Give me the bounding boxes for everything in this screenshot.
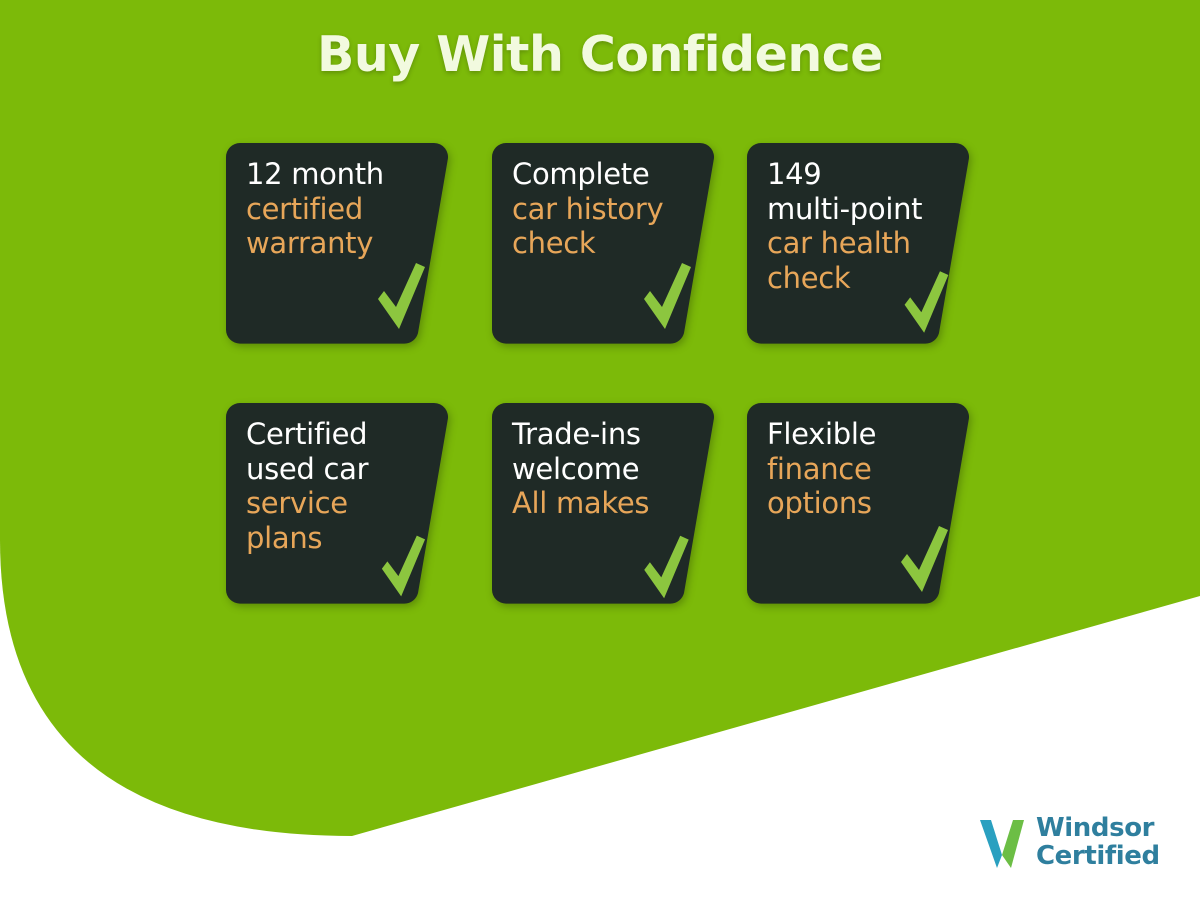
logo-wordmark: Windsor Certified bbox=[1036, 814, 1160, 870]
card-text-block: Flexible finance options bbox=[767, 417, 957, 521]
check-icon bbox=[372, 259, 430, 333]
feature-card[interactable]: Certified used car service plans bbox=[226, 399, 454, 605]
feature-card[interactable]: 12 month certified warranty bbox=[226, 139, 454, 345]
card-line: Flexible bbox=[767, 417, 957, 452]
card-line: certified bbox=[246, 192, 436, 227]
check-icon bbox=[638, 259, 696, 333]
poster-canvas: Buy With Confidence 12 month certified w… bbox=[0, 0, 1200, 900]
card-text-block: Complete car history check bbox=[512, 157, 702, 261]
feature-card[interactable]: 149 multi-point car health check bbox=[747, 139, 975, 345]
card-line: warranty bbox=[246, 226, 436, 261]
card-line: service bbox=[246, 486, 436, 521]
feature-card[interactable]: Complete car history check bbox=[492, 139, 720, 345]
card-line: welcome bbox=[512, 452, 702, 487]
card-line: check bbox=[512, 226, 702, 261]
card-line: finance bbox=[767, 452, 957, 487]
feature-card[interactable]: Trade-ins welcome All makes bbox=[492, 399, 720, 605]
feature-card-grid: 12 month certified warranty Complete car… bbox=[226, 139, 986, 605]
check-icon bbox=[638, 532, 694, 602]
card-line: used car bbox=[246, 452, 436, 487]
card-line: Certified bbox=[246, 417, 436, 452]
card-text-block: 12 month certified warranty bbox=[246, 157, 436, 261]
card-line: multi-point bbox=[767, 192, 957, 227]
check-icon bbox=[899, 267, 953, 337]
check-icon bbox=[895, 521, 953, 597]
card-line: 149 bbox=[767, 157, 957, 192]
feature-card[interactable]: Flexible finance options bbox=[747, 399, 975, 605]
card-line: 12 month bbox=[246, 157, 436, 192]
card-line: All makes bbox=[512, 486, 702, 521]
windsor-certified-logo[interactable]: Windsor Certified bbox=[978, 811, 1168, 873]
card-line: options bbox=[767, 486, 957, 521]
card-line: Complete bbox=[512, 157, 702, 192]
card-line: Trade-ins bbox=[512, 417, 702, 452]
card-line: car history bbox=[512, 192, 702, 227]
logo-line-2: Certified bbox=[1036, 842, 1160, 870]
card-text-block: Trade-ins welcome All makes bbox=[512, 417, 702, 521]
check-icon bbox=[376, 532, 430, 600]
logo-line-1: Windsor bbox=[1036, 814, 1160, 842]
card-line: car health bbox=[767, 226, 957, 261]
windsor-w-icon bbox=[978, 815, 1030, 869]
page-title: Buy With Confidence bbox=[0, 26, 1200, 83]
